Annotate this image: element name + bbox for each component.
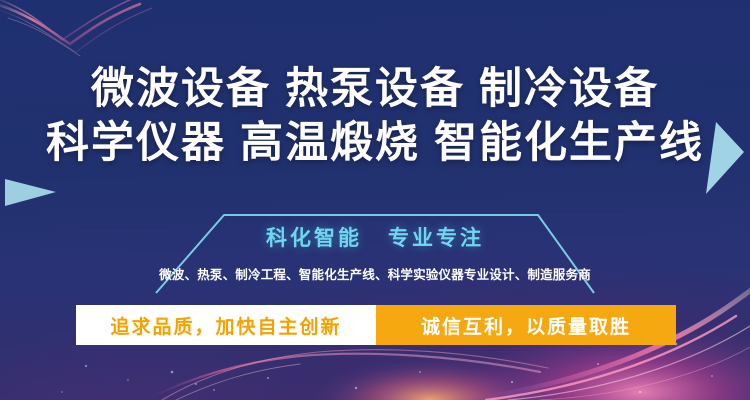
tagline-bar: 追求品质，加快自主创新 诚信互利，以质量取胜 xyxy=(76,305,676,345)
triangle-right-icon xyxy=(5,179,56,206)
slogan-right: 专业专注 xyxy=(388,227,484,250)
slogan: 科化智能专业专注 xyxy=(0,222,750,252)
headline-line-2: 科学仪器 高温煅烧 智能化生产线 xyxy=(0,116,750,170)
slogan-left: 科化智能 xyxy=(266,227,362,250)
subtitle: 微波、热泵、制冷工程、智能化生产线、科学实验仪器专业设计、制造服务商 xyxy=(0,264,750,283)
page-title: 微波设备 热泵设备 制冷设备 科学仪器 高温煅烧 智能化生产线 xyxy=(0,62,750,170)
headline-line-1: 微波设备 热泵设备 制冷设备 xyxy=(0,62,750,116)
tagline-pill-quality[interactable]: 追求品质，加快自主创新 xyxy=(76,305,376,345)
promo-banner: 微波设备 热泵设备 制冷设备 科学仪器 高温煅烧 智能化生产线 科化智能专业专注… xyxy=(0,0,750,400)
tagline-pill-integrity[interactable]: 诚信互利，以质量取胜 xyxy=(376,305,676,345)
